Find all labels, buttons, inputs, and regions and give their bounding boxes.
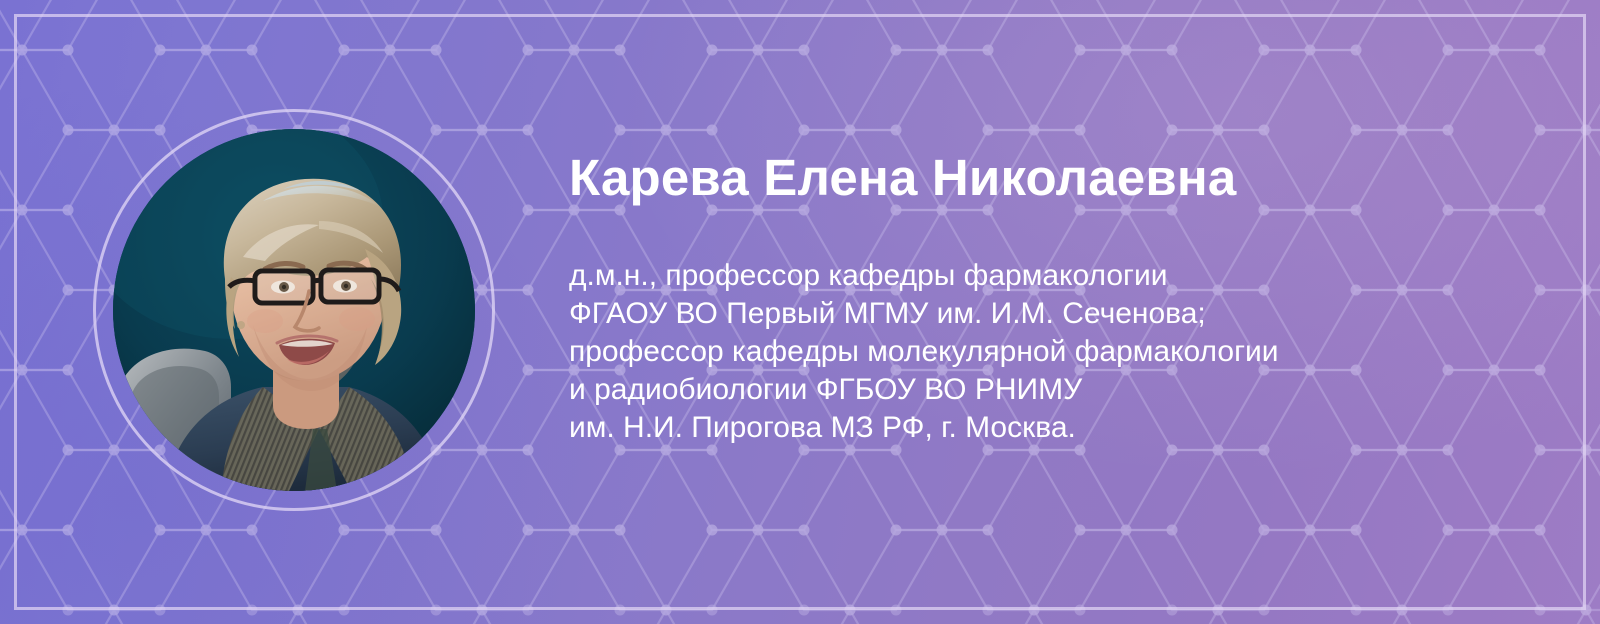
affiliation-line-3: профессор кафедры молекулярной фармаколо… — [569, 333, 1529, 371]
speaker-name: Карева Елена Николаевна — [569, 150, 1529, 205]
portrait-ring — [93, 109, 495, 511]
speaker-affiliation: д.м.н., профессор кафедры фармакологии Ф… — [569, 257, 1529, 447]
speaker-portrait — [93, 109, 495, 511]
affiliation-line-4: и радиобиологии ФГБОУ ВО РНИМУ — [569, 371, 1529, 409]
affiliation-line-1: д.м.н., профессор кафедры фармакологии — [569, 257, 1529, 295]
affiliation-line-2: ФГАОУ ВО Первый МГМУ им. И.М. Сеченова; — [569, 295, 1529, 333]
speaker-intro-slide: Карева Елена Николаевна д.м.н., профессо… — [0, 0, 1600, 624]
speaker-text-block: Карева Елена Николаевна д.м.н., профессо… — [569, 150, 1529, 447]
affiliation-line-5: им. Н.И. Пирогова МЗ РФ, г. Москва. — [569, 409, 1529, 447]
